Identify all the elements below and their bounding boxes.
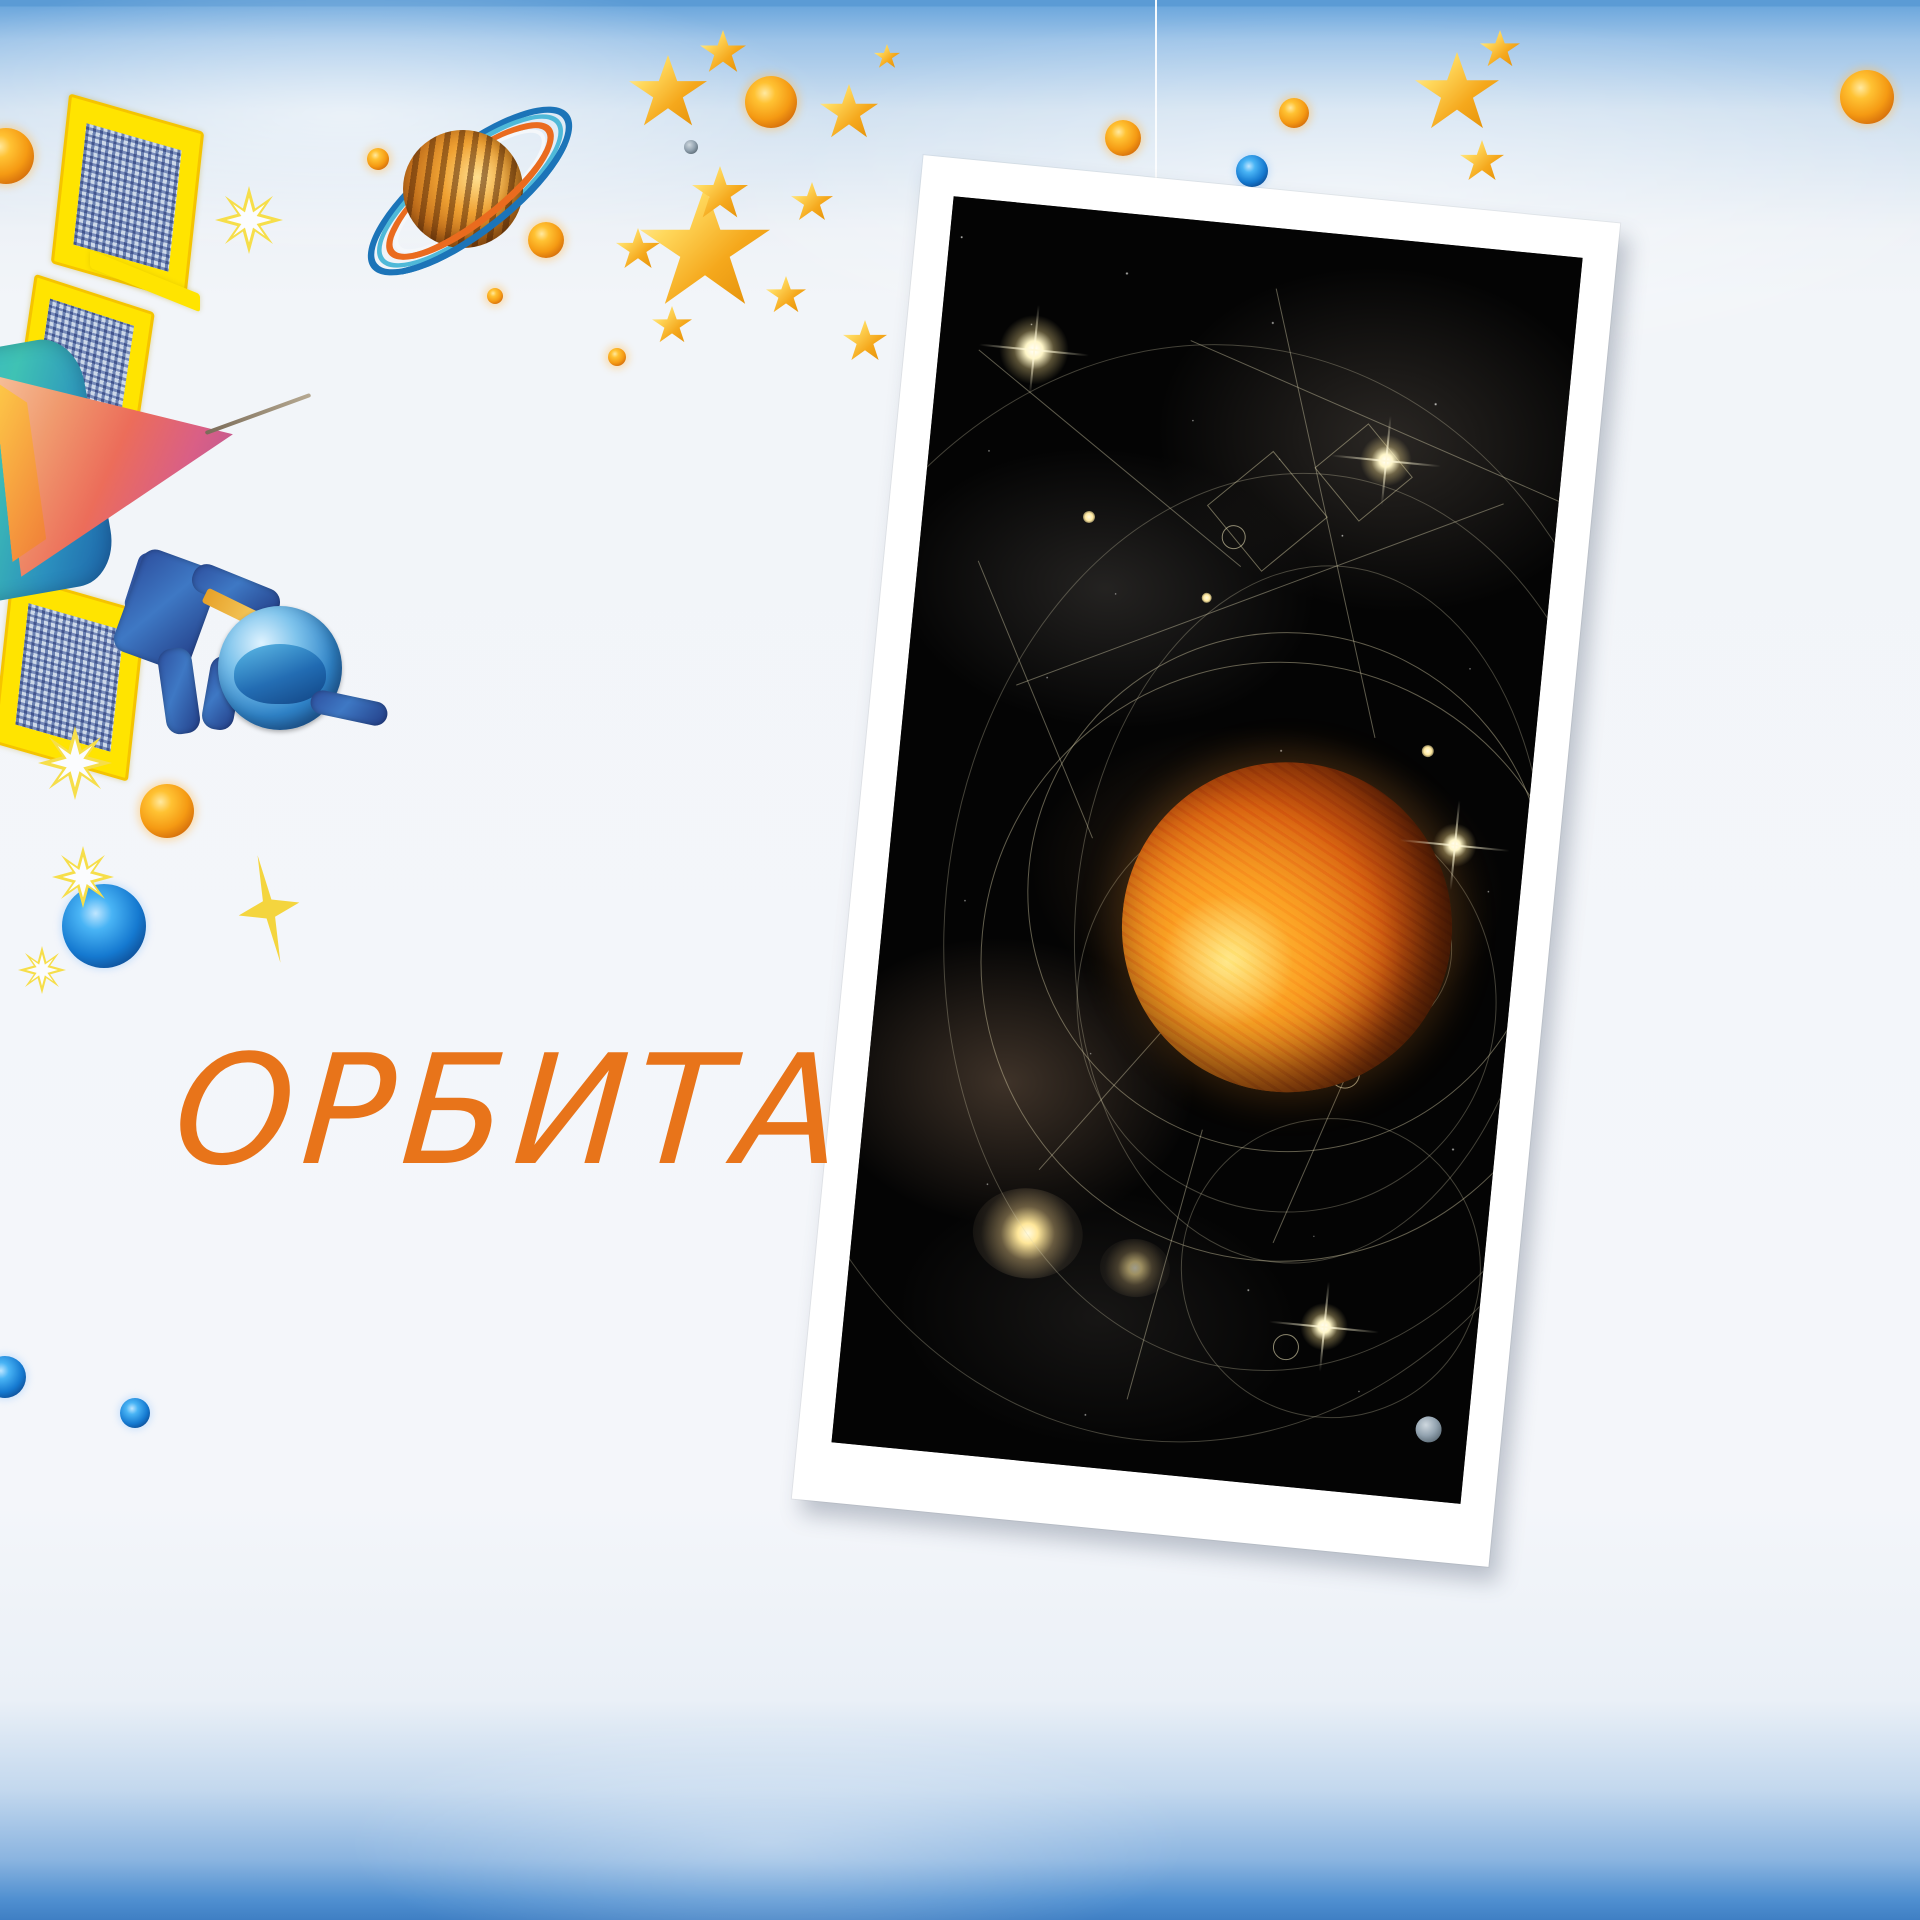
grey-sphere-1 [684,140,698,154]
satellite-rocket-illustration [0,60,390,760]
sparkle-star-3 [52,846,114,908]
gold-star-2 [700,30,746,74]
gold-star-9 [652,306,692,344]
astronaut-arm-lower [308,688,389,728]
orange-sphere-8 [1279,98,1309,128]
photo-frame[interactable] [792,155,1620,1567]
orange-sphere-6 [608,348,626,366]
gold-star-4 [874,44,900,69]
orange-sphere-3 [528,222,564,258]
sparkle-star-1 [215,186,283,254]
blue-sphere-3 [120,1398,150,1428]
gold-star-11 [1415,52,1499,132]
orange-sphere-9 [1840,70,1894,124]
astronaut-leg-left [156,646,202,736]
gold-star-8 [766,276,806,314]
blue-sphere-1 [1236,155,1268,187]
blue-sphere-4 [0,1356,26,1398]
ringed-planet-illustration [355,78,585,303]
rocket-antenna [205,393,312,435]
gold-star-7 [791,182,833,222]
orange-sphere-5 [745,76,797,128]
gold-star-1 [629,55,707,129]
orange-sphere-2 [367,148,389,170]
sparkle-burst [227,849,311,969]
photo-image [831,196,1582,1504]
page-title: ОРБИТА [169,1022,855,1199]
sparkle-star-2 [38,726,112,800]
orange-sphere-7 [1105,120,1141,156]
gold-star-3 [820,84,878,140]
orange-sphere-4 [487,288,503,304]
presentation-slide: ОРБИТА [0,0,1920,1920]
sparkle-star-4 [18,946,66,994]
orange-sphere-10 [140,784,194,838]
gold-star-large [640,186,770,310]
gold-star-12 [1480,30,1520,68]
gold-star-13 [1460,140,1504,182]
gold-star-10 [843,320,887,362]
blue-sphere-2 [62,884,146,968]
